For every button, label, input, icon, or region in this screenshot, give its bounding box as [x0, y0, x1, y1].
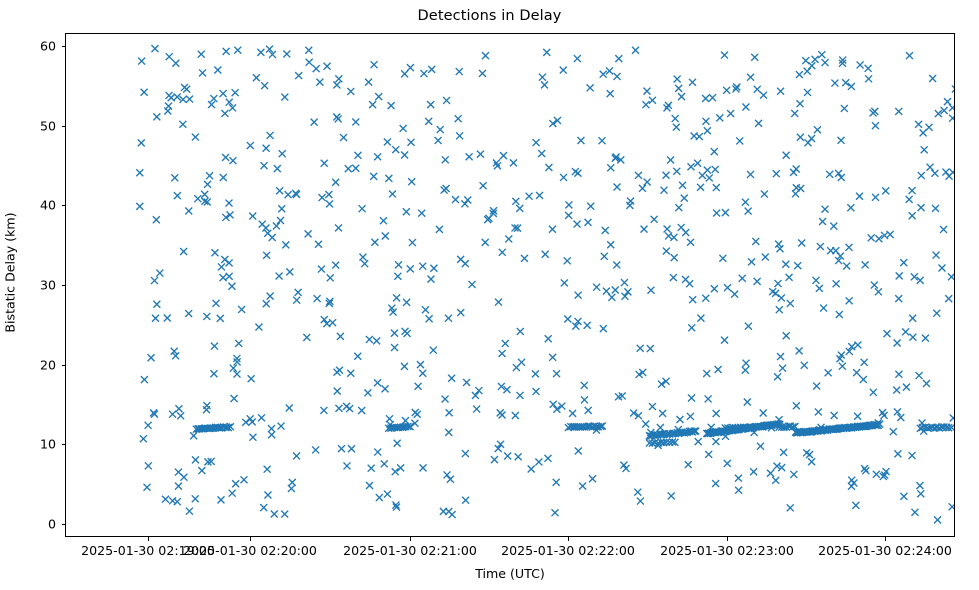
- scatter-marker: [144, 484, 151, 491]
- x-axis-label: Time (UTC): [65, 566, 955, 581]
- scatter-marker: [220, 90, 227, 97]
- scatter-marker: [141, 376, 148, 383]
- scatter-marker: [329, 319, 336, 326]
- scatter-marker: [735, 487, 742, 494]
- y-tick-label: 50: [0, 118, 56, 133]
- scatter-marker: [754, 278, 761, 285]
- scatter-marker: [637, 498, 644, 505]
- scatter-marker: [233, 371, 240, 378]
- scatter-marker: [230, 365, 237, 372]
- scatter-marker: [798, 239, 805, 246]
- scatter-marker: [915, 121, 922, 128]
- scatter-marker: [469, 281, 476, 288]
- scatter-marker: [260, 504, 267, 511]
- scatter-marker: [278, 205, 285, 212]
- scatter-marker: [420, 464, 427, 471]
- scatter-marker: [637, 345, 644, 352]
- scatter-marker: [577, 137, 584, 144]
- scatter-marker: [561, 279, 568, 286]
- scatter-marker: [263, 252, 270, 259]
- scatter-marker: [371, 239, 378, 246]
- scatter-marker: [295, 289, 302, 296]
- scatter-marker: [472, 392, 479, 399]
- scatter-marker: [217, 315, 224, 322]
- scatter-marker: [639, 185, 646, 192]
- scatter-marker: [401, 152, 408, 159]
- scatter-marker: [229, 157, 236, 164]
- scatter-marker: [482, 239, 489, 246]
- scatter-marker: [247, 415, 254, 422]
- scatter-marker: [249, 434, 256, 441]
- scatter-marker: [803, 449, 810, 456]
- scatter-marker: [745, 323, 752, 330]
- scatter-marker: [211, 343, 218, 350]
- scatter-marker: [848, 477, 855, 484]
- scatter-marker: [721, 337, 728, 344]
- scatter-marker: [352, 118, 359, 125]
- scatter-marker: [435, 137, 442, 144]
- scatter-marker: [743, 360, 750, 367]
- scatter-marker: [153, 216, 160, 223]
- scatter-marker: [417, 361, 424, 368]
- scatter-marker: [786, 274, 793, 281]
- scatter-marker: [777, 353, 784, 360]
- scatter-marker: [670, 234, 677, 241]
- scatter-marker: [418, 210, 425, 217]
- scatter-marker: [332, 179, 339, 186]
- scatter-marker: [213, 300, 220, 307]
- scatter-marker: [833, 280, 840, 287]
- scatter-marker: [174, 498, 181, 505]
- scatter-marker: [436, 226, 443, 233]
- scatter-marker: [446, 409, 453, 416]
- scatter-marker: [647, 345, 654, 352]
- scatter-marker: [186, 508, 193, 515]
- scatter-marker: [697, 184, 704, 191]
- scatter-marker: [347, 370, 354, 377]
- scatter-marker: [512, 412, 519, 419]
- scatter-marker: [675, 204, 682, 211]
- scatter-marker: [862, 261, 869, 268]
- scatter-marker: [172, 60, 179, 67]
- scatter-marker: [430, 265, 437, 272]
- scatter-marker: [393, 294, 400, 301]
- scatter-marker: [461, 200, 468, 207]
- scatter-marker: [259, 221, 266, 228]
- scatter-marker: [264, 466, 271, 473]
- scatter-marker: [229, 490, 236, 497]
- scatter-marker: [156, 270, 163, 277]
- scatter-marker: [663, 248, 670, 255]
- scatter-marker: [293, 452, 300, 459]
- scatter-marker: [517, 328, 524, 335]
- scatter-marker: [711, 148, 718, 155]
- scatter-marker: [231, 395, 238, 402]
- scatter-marker: [696, 133, 703, 140]
- scatter-marker: [247, 142, 254, 149]
- scatter-marker: [380, 217, 387, 224]
- scatter-marker: [607, 90, 614, 97]
- scatter-marker: [724, 284, 731, 291]
- scatter-marker: [286, 405, 293, 412]
- scatter-marker: [201, 191, 208, 198]
- scatter-marker: [411, 420, 418, 427]
- scatter-marker: [354, 152, 361, 159]
- scatter-marker: [721, 52, 728, 59]
- scatter-marker: [145, 462, 152, 469]
- scatter-marker: [402, 328, 409, 335]
- scatter-marker: [742, 104, 749, 111]
- scatter-marker: [780, 449, 787, 456]
- scatter-marker: [136, 169, 143, 176]
- scatter-marker: [382, 385, 389, 392]
- scatter-marker: [918, 172, 925, 179]
- scatter-marker: [697, 315, 704, 322]
- scatter-marker: [347, 88, 354, 95]
- scatter-marker: [276, 273, 283, 280]
- scatter-marker: [896, 272, 903, 279]
- scatter-marker: [649, 403, 656, 410]
- scatter-marker: [175, 405, 182, 412]
- scatter-marker: [359, 205, 366, 212]
- scatter-marker: [401, 70, 408, 77]
- scatter-marker: [587, 84, 594, 91]
- scatter-marker: [687, 163, 694, 170]
- scatter-marker: [808, 458, 815, 465]
- scatter-marker: [787, 504, 794, 511]
- scatter-marker: [181, 84, 188, 91]
- scatter-marker: [671, 254, 678, 261]
- scatter-marker: [314, 295, 321, 302]
- scatter-marker: [818, 51, 825, 58]
- scatter-marker: [295, 72, 302, 79]
- scatter-marker: [783, 152, 790, 159]
- scatter-marker: [346, 405, 353, 412]
- scatter-marker: [281, 511, 288, 518]
- scatter-marker: [612, 287, 619, 294]
- scatter-marker: [248, 375, 255, 382]
- scatter-marker: [364, 389, 371, 396]
- x-tick-mark: [410, 537, 411, 541]
- scatter-marker: [895, 295, 902, 302]
- scatter-marker: [211, 249, 218, 256]
- scatter-marker: [865, 65, 872, 72]
- scatter-marker: [303, 334, 310, 341]
- scatter-marker: [255, 324, 262, 331]
- scatter-marker: [614, 73, 621, 80]
- scatter-marker: [203, 313, 210, 320]
- scatter-marker: [516, 205, 523, 212]
- scatter-marker: [445, 315, 452, 322]
- scatter-marker: [787, 300, 794, 307]
- scatter-marker: [909, 315, 916, 322]
- scatter-marker: [448, 375, 455, 382]
- x-tick-mark: [148, 537, 149, 541]
- scatter-marker: [747, 171, 754, 178]
- scatter-marker: [838, 137, 845, 144]
- scatter-marker: [279, 150, 286, 157]
- scatter-marker: [261, 162, 268, 169]
- scatter-marker: [408, 178, 415, 185]
- scatter-marker: [644, 179, 651, 186]
- scatter-marker: [634, 489, 641, 496]
- scatter-marker: [933, 252, 940, 259]
- scatter-marker: [702, 118, 709, 125]
- scatter-marker: [822, 59, 829, 66]
- scatter-marker: [192, 134, 199, 141]
- scatter-marker: [854, 413, 861, 420]
- scatter-marker: [931, 170, 938, 177]
- scatter-marker: [456, 132, 463, 139]
- scatter-marker: [268, 425, 275, 432]
- scatter-marker: [689, 296, 696, 303]
- scatter-marker: [136, 203, 143, 210]
- scatter-marker: [376, 494, 383, 501]
- scatter-marker: [635, 172, 642, 179]
- scatter-marker: [361, 260, 368, 267]
- scatter-marker: [581, 382, 588, 389]
- scatter-marker: [632, 47, 639, 54]
- scatter-marker: [442, 396, 449, 403]
- scatter-marker: [575, 292, 582, 299]
- scatter-marker: [949, 115, 954, 122]
- scatter-marker: [687, 413, 694, 420]
- x-tick-label: 2025-01-30 02:24:00: [785, 543, 979, 558]
- scatter-marker: [702, 295, 709, 302]
- scatter-marker: [819, 218, 826, 225]
- scatter-marker: [203, 406, 210, 413]
- scatter-marker: [791, 110, 798, 117]
- scatter-marker: [796, 347, 803, 354]
- scatter-marker: [179, 121, 186, 128]
- scatter-marker: [407, 265, 414, 272]
- scatter-marker: [232, 480, 239, 487]
- scatter-marker: [334, 388, 341, 395]
- scatter-marker: [325, 191, 332, 198]
- scatter-marker: [186, 96, 193, 103]
- scatter-marker: [664, 225, 671, 232]
- scatter-marker: [621, 293, 628, 300]
- scatter-marker: [389, 190, 396, 197]
- scatter-marker: [887, 231, 894, 238]
- scatter-marker: [550, 401, 557, 408]
- scatter-marker: [906, 52, 913, 59]
- scatter-marker: [702, 95, 709, 102]
- scatter-marker: [234, 47, 241, 54]
- scatter-marker: [883, 330, 890, 337]
- scatter-marker: [779, 365, 786, 372]
- scatter-marker: [427, 276, 434, 283]
- scatter-marker: [606, 67, 613, 74]
- scatter-marker: [553, 370, 560, 377]
- scatter-marker: [909, 187, 916, 194]
- scatter-marker: [695, 438, 702, 445]
- scatter-marker: [673, 124, 680, 131]
- scatter-marker: [879, 409, 886, 416]
- scatter-marker: [479, 70, 486, 77]
- scatter-marker: [194, 195, 201, 202]
- scatter-marker: [482, 52, 489, 59]
- scatter-marker: [253, 74, 260, 81]
- scatter-marker: [391, 344, 398, 351]
- scatter-marker: [813, 383, 820, 390]
- scatter-marker: [757, 443, 764, 450]
- scatter-marker: [281, 94, 288, 101]
- scatter-marker: [761, 191, 768, 198]
- scatter-marker: [895, 371, 902, 378]
- scatter-marker: [336, 367, 343, 374]
- scatter-marker: [875, 288, 882, 295]
- scatter-marker: [674, 76, 681, 83]
- scatter-marker: [894, 340, 901, 347]
- scatter-marker: [719, 255, 726, 262]
- scatter-marker: [688, 324, 695, 331]
- scatter-marker: [643, 88, 650, 95]
- scatter-marker: [794, 262, 801, 269]
- scatter-marker: [464, 197, 471, 204]
- scatter-marker: [712, 438, 719, 445]
- scatter-marker: [812, 56, 819, 63]
- scatter-marker: [607, 241, 614, 248]
- scatter-marker: [539, 74, 546, 81]
- scatter-marker: [138, 58, 145, 65]
- scatter-marker: [192, 456, 199, 463]
- scatter-marker: [463, 379, 470, 386]
- scatter-marker: [282, 241, 289, 248]
- scatter-marker: [642, 101, 649, 108]
- scatter-marker: [532, 370, 539, 377]
- scatter-marker: [495, 299, 502, 306]
- scatter-marker: [615, 55, 622, 62]
- scatter-marker: [285, 191, 292, 198]
- scatter-marker: [854, 341, 861, 348]
- scatter-marker: [744, 398, 751, 405]
- scatter-marker: [425, 118, 432, 125]
- scatter-marker: [739, 275, 746, 282]
- scatter-marker: [394, 440, 401, 447]
- scatter-marker: [575, 447, 582, 454]
- scatter-marker: [665, 232, 672, 239]
- scatter-marker: [614, 184, 621, 191]
- scatter-marker: [175, 483, 182, 490]
- scatter-marker: [264, 230, 271, 237]
- scatter-marker: [394, 273, 401, 280]
- scatter-marker: [140, 435, 147, 442]
- scatter-marker: [900, 259, 907, 266]
- scatter-marker: [783, 332, 790, 339]
- scatter-marker: [366, 482, 373, 489]
- scatter-marker: [923, 380, 930, 387]
- scatter-marker: [533, 388, 540, 395]
- scatter-marker: [162, 496, 169, 503]
- scatter-marker: [712, 166, 719, 173]
- scatter-marker: [165, 103, 172, 110]
- scatter-marker: [801, 362, 808, 369]
- scatter-marker: [642, 421, 649, 428]
- scatter-marker: [678, 93, 685, 100]
- scatter-marker: [536, 192, 543, 199]
- scatter-marker: [587, 203, 594, 210]
- scatter-marker: [232, 89, 239, 96]
- scatter-marker: [622, 465, 629, 472]
- scatter-marker: [895, 108, 902, 115]
- scatter-marker: [544, 455, 551, 462]
- y-tick-label: 20: [0, 357, 56, 372]
- scatter-marker: [685, 461, 692, 468]
- scatter-marker: [699, 172, 706, 179]
- scatter-marker: [288, 485, 295, 492]
- scatter-marker: [293, 297, 300, 304]
- scatter-marker: [412, 409, 419, 416]
- scatter-marker: [327, 274, 334, 281]
- scatter-marker: [949, 503, 954, 510]
- y-tick-label: 40: [0, 198, 56, 213]
- scatter-marker: [543, 49, 550, 56]
- scatter-marker: [382, 233, 389, 240]
- scatter-marker: [271, 511, 278, 518]
- y-tick-label: 10: [0, 437, 56, 452]
- scatter-marker: [177, 412, 184, 419]
- scatter-marker: [473, 406, 480, 413]
- scatter-marker: [687, 239, 694, 246]
- scatter-marker: [422, 306, 429, 313]
- scatter-marker: [210, 95, 217, 102]
- scatter-marker: [315, 241, 322, 248]
- scatter-marker: [545, 335, 552, 342]
- scatter-marker: [694, 160, 701, 167]
- scatter-marker: [581, 396, 588, 403]
- scatter-marker: [273, 222, 280, 229]
- scatter-marker: [445, 429, 452, 436]
- scatter-marker: [340, 134, 347, 141]
- scatter-marker: [670, 274, 677, 281]
- scatter-marker: [138, 139, 145, 146]
- scatter-marker: [374, 379, 381, 386]
- scatter-marker: [767, 470, 774, 477]
- scatter-marker: [286, 268, 293, 275]
- scatter-marker: [918, 204, 925, 211]
- scatter-marker: [321, 160, 328, 167]
- scatter-marker: [909, 212, 916, 219]
- scatter-marker: [754, 86, 761, 93]
- scatter-marker: [374, 153, 381, 160]
- scatter-marker: [672, 115, 679, 122]
- scatter-marker: [727, 110, 734, 117]
- scatter-marker: [359, 254, 366, 261]
- scatter-marker: [724, 460, 731, 467]
- scatter-marker: [755, 120, 762, 127]
- scatter-marker: [263, 145, 270, 152]
- scatter-marker: [917, 490, 924, 497]
- scatter-marker: [526, 193, 533, 200]
- scatter-marker: [452, 196, 459, 203]
- scatter-marker: [821, 206, 828, 213]
- scatter-marker: [283, 50, 290, 57]
- scatter-marker: [145, 422, 152, 429]
- scatter-marker: [903, 384, 910, 391]
- scatter-marker: [185, 207, 192, 214]
- scatter-marker: [274, 165, 281, 172]
- scatter-marker: [778, 294, 785, 301]
- scatter-marker: [838, 174, 845, 181]
- scatter-marker: [816, 285, 823, 292]
- scatter-marker: [384, 491, 391, 498]
- scatter-marker: [226, 200, 233, 207]
- scatter-marker: [857, 61, 864, 68]
- scatter-marker: [210, 370, 217, 377]
- scatter-marker: [384, 138, 391, 145]
- scatter-marker: [428, 66, 435, 73]
